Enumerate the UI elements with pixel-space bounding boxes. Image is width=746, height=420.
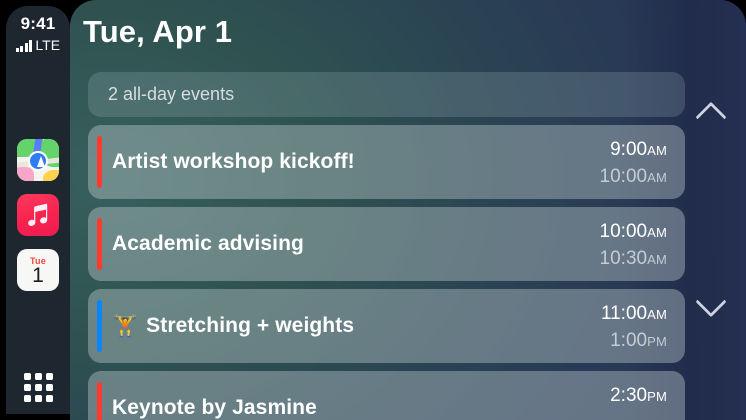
scroll-down-button[interactable]	[690, 285, 732, 327]
carplay-screen: Tue, Apr 1 2 all-day events Artist works…	[0, 0, 746, 420]
sidebar-item-calendar[interactable]: Tue 1	[17, 249, 59, 291]
sidebar-item-music[interactable]	[17, 194, 59, 236]
status-bar: 9:41 LTE	[6, 14, 70, 52]
music-note-icon	[17, 194, 59, 236]
event-end-time: 10:00AM	[600, 164, 667, 191]
event-start-time: 11:00AM	[601, 301, 667, 328]
event-accent-bar	[97, 218, 102, 270]
event-title-wrap: Keynote by Jasmine	[112, 371, 317, 420]
event-start-time: 10:00AM	[600, 219, 667, 246]
page-title: Tue, Apr 1	[83, 14, 232, 50]
maps-area-shape-2	[43, 170, 59, 181]
event-title-wrap: 🏋️ Stretching + weights	[112, 289, 354, 363]
calendar-icon-day-number: 1	[32, 265, 44, 287]
event-row[interactable]: 🏋️ Stretching + weights 11:00AM 1:00PM	[88, 289, 685, 363]
event-list: 2 all-day events Artist workshop kickoff…	[88, 72, 685, 420]
sidebar-item-maps[interactable]	[17, 139, 59, 181]
event-row[interactable]: Keynote by Jasmine 2:30PM	[88, 371, 685, 420]
event-times: 11:00AM 1:00PM	[601, 301, 667, 355]
event-end-time: 1:00PM	[601, 328, 667, 355]
event-times: 2:30PM	[610, 383, 667, 410]
status-signal-row: LTE	[6, 37, 70, 52]
event-row[interactable]: Artist workshop kickoff! 9:00AM 10:00AM	[88, 125, 685, 199]
event-title: Academic advising	[112, 232, 304, 256]
event-accent-bar	[97, 382, 102, 420]
status-time: 9:41	[6, 14, 70, 34]
event-row[interactable]: Academic advising 10:00AM 10:30AM	[88, 207, 685, 281]
chevron-down-icon	[695, 286, 726, 317]
event-start-time: 2:30PM	[610, 383, 667, 410]
event-start-time: 9:00AM	[600, 137, 667, 164]
cellular-signal-icon	[16, 40, 33, 52]
weightlifter-icon: 🏋️	[112, 316, 138, 337]
all-day-events-banner[interactable]: 2 all-day events	[88, 72, 685, 117]
maps-arrow-icon	[37, 156, 45, 167]
event-accent-bar	[97, 136, 102, 188]
scroll-up-button[interactable]	[690, 92, 732, 134]
event-title: Artist workshop kickoff!	[112, 150, 355, 174]
event-end-time: 10:30AM	[600, 246, 667, 273]
all-day-events-label: 2 all-day events	[108, 84, 234, 105]
chevron-up-icon	[695, 102, 726, 133]
event-times: 10:00AM 10:30AM	[600, 219, 667, 273]
maps-navigation-badge	[28, 151, 48, 171]
event-title: Stretching + weights	[146, 314, 354, 338]
sidebar: 9:41 LTE	[6, 6, 70, 414]
event-title: Keynote by Jasmine	[112, 396, 317, 420]
event-accent-bar	[97, 300, 102, 352]
event-title-wrap: Artist workshop kickoff!	[112, 125, 355, 199]
app-grid-icon[interactable]	[17, 366, 59, 408]
event-times: 9:00AM 10:00AM	[600, 137, 667, 191]
event-title-wrap: Academic advising	[112, 207, 304, 281]
network-type-label: LTE	[35, 39, 60, 52]
